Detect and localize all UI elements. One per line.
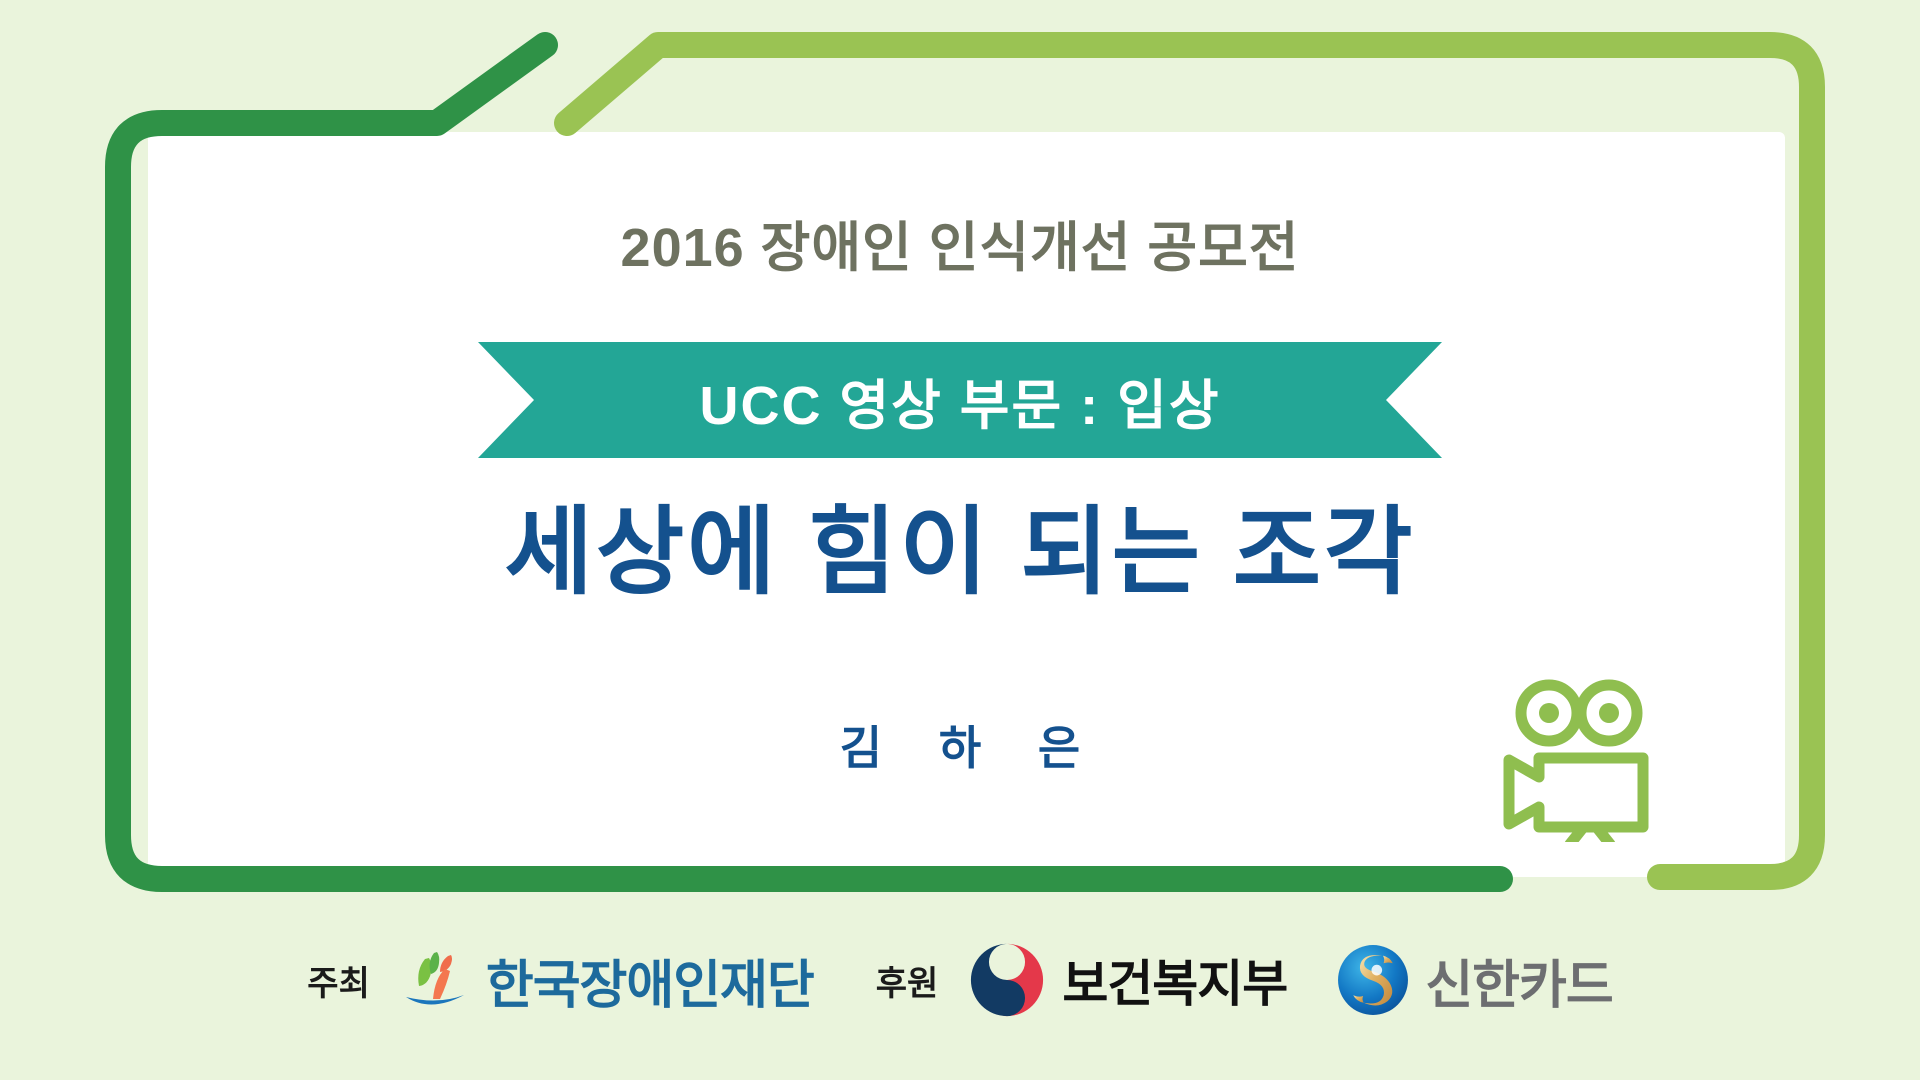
host-org-name: 한국장애인재단 <box>486 943 814 1018</box>
work-title: 세상에 힘이 되는 조각 <box>0 500 1920 606</box>
shinhan-org-name: 신한카드 <box>1425 943 1612 1018</box>
korea-government-taegeuk-logo <box>966 939 1048 1021</box>
shinhan-card-logo <box>1335 942 1411 1018</box>
mohw-logo-wrap: 보건복지부 <box>966 939 1287 1021</box>
host-logo-wrap: 한국장애인재단 <box>398 943 814 1018</box>
movie-camera-icon <box>1498 672 1658 842</box>
host-group: 주최 한국장애인재단 <box>307 943 813 1018</box>
reel-hub-left <box>1539 703 1559 723</box>
shinhan-logo-wrap: 신한카드 <box>1335 942 1612 1018</box>
sponsor-role-label: 후원 <box>876 956 939 1005</box>
category-ribbon: UCC 영상 부문 : 입상 <box>478 342 1442 458</box>
category-label: UCC 영상 부문 : 입상 <box>478 342 1442 458</box>
contest-title: 2016 장애인 인식개선 공모전 <box>0 203 1920 282</box>
host-role-label: 주최 <box>307 956 370 1005</box>
reel-hub-right <box>1599 703 1619 723</box>
poster-canvas: 2016 장애인 인식개선 공모전 UCC 영상 부문 : 입상 세상에 힘이 … <box>0 0 1920 1080</box>
mohw-org-name: 보건복지부 <box>1062 944 1287 1016</box>
sponsor-group: 후원 보건복지부 <box>876 939 1613 1021</box>
kdf-sprout-logo <box>398 943 472 1017</box>
footer-logos: 주최 한국장애인재단 후원 <box>0 920 1920 1040</box>
